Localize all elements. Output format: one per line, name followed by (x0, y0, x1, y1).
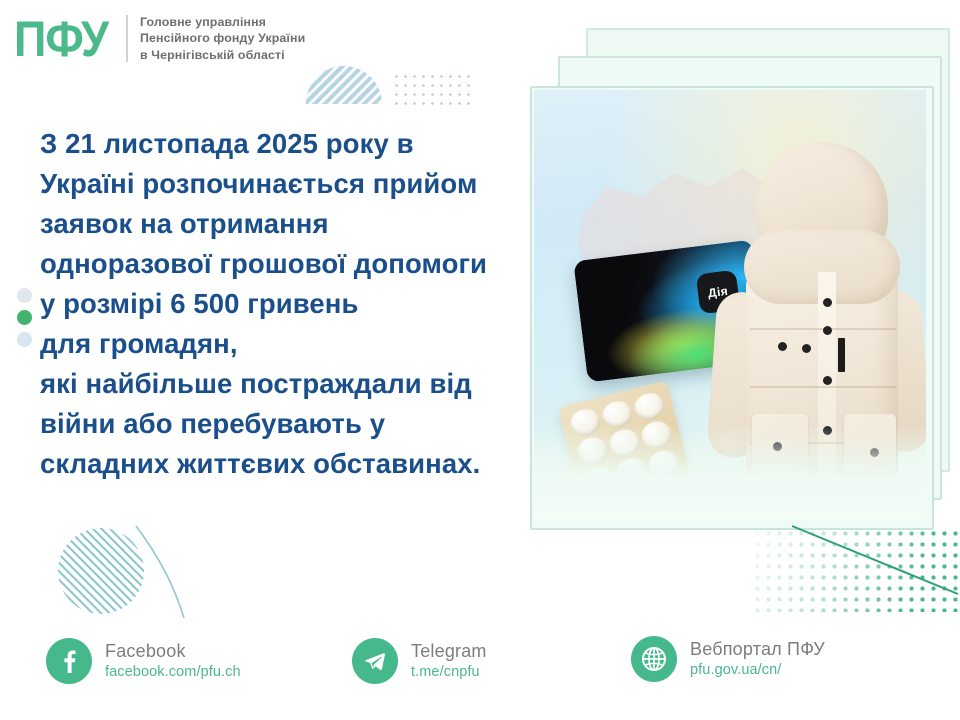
org-line-2: Пенсійного фонду України (140, 30, 305, 46)
org-line-1: Головне управління (140, 14, 305, 30)
dot-grid-decoration-top (392, 72, 470, 106)
social-link-telegram[interactable]: Telegram t.me/cnpfu (352, 638, 487, 684)
organization-name: Головне управління Пенсійного фонду Укра… (140, 14, 305, 63)
dot-green (17, 310, 32, 325)
jacket-button (823, 298, 832, 307)
social-link-facebook[interactable]: Facebook facebook.com/pfu.ch (46, 638, 241, 684)
poster-canvas: ПФУ Головне управління Пенсійного фонду … (0, 0, 960, 720)
photo-composition: Дія (534, 90, 926, 520)
social-title: Facebook (105, 640, 241, 662)
social-title: Telegram (411, 640, 487, 662)
jacket-brand-tag (838, 338, 845, 372)
facebook-icon[interactable] (46, 638, 92, 684)
side-dot-decoration (17, 288, 32, 347)
jacket-button (778, 342, 787, 351)
jacket-button (823, 326, 832, 335)
globe-icon[interactable] (631, 636, 677, 682)
social-url[interactable]: t.me/cnpfu (411, 663, 487, 682)
social-url[interactable]: facebook.com/pfu.ch (105, 663, 241, 682)
social-text-facebook: Facebook facebook.com/pfu.ch (105, 640, 241, 682)
social-text-telegram: Telegram t.me/cnpfu (411, 640, 487, 682)
page-headline: З 21 листопада 2025 року в Україні розпо… (40, 124, 540, 484)
dot-gray (17, 288, 32, 303)
footer-social-bar: Facebook facebook.com/pfu.ch Telegram t.… (0, 624, 960, 720)
jacket-button (802, 344, 811, 353)
dot-blue (17, 332, 32, 347)
brand-header: ПФУ Головне управління Пенсійного фонду … (14, 14, 305, 63)
illustration-panel: Дія (500, 28, 960, 548)
org-line-3: в Чернігівській області (140, 47, 305, 63)
photo-bottom-fade (534, 424, 926, 520)
diagonal-line-decoration (790, 520, 960, 600)
striped-half-circle-decoration (306, 66, 382, 104)
pfu-logo: ПФУ (14, 13, 108, 63)
social-text-webportal: Вебпортал ПФУ pfu.gov.ua/cn/ (690, 638, 825, 680)
social-title: Вебпортал ПФУ (690, 638, 825, 660)
telegram-icon[interactable] (352, 638, 398, 684)
pill (632, 390, 667, 423)
jacket-button (823, 376, 832, 385)
curved-line-decoration (130, 524, 200, 620)
social-link-webportal[interactable]: Вебпортал ПФУ pfu.gov.ua/cn/ (631, 636, 825, 682)
logo-divider (126, 15, 128, 62)
jacket-seam (750, 386, 896, 388)
social-url[interactable]: pfu.gov.ua/cn/ (690, 661, 825, 680)
